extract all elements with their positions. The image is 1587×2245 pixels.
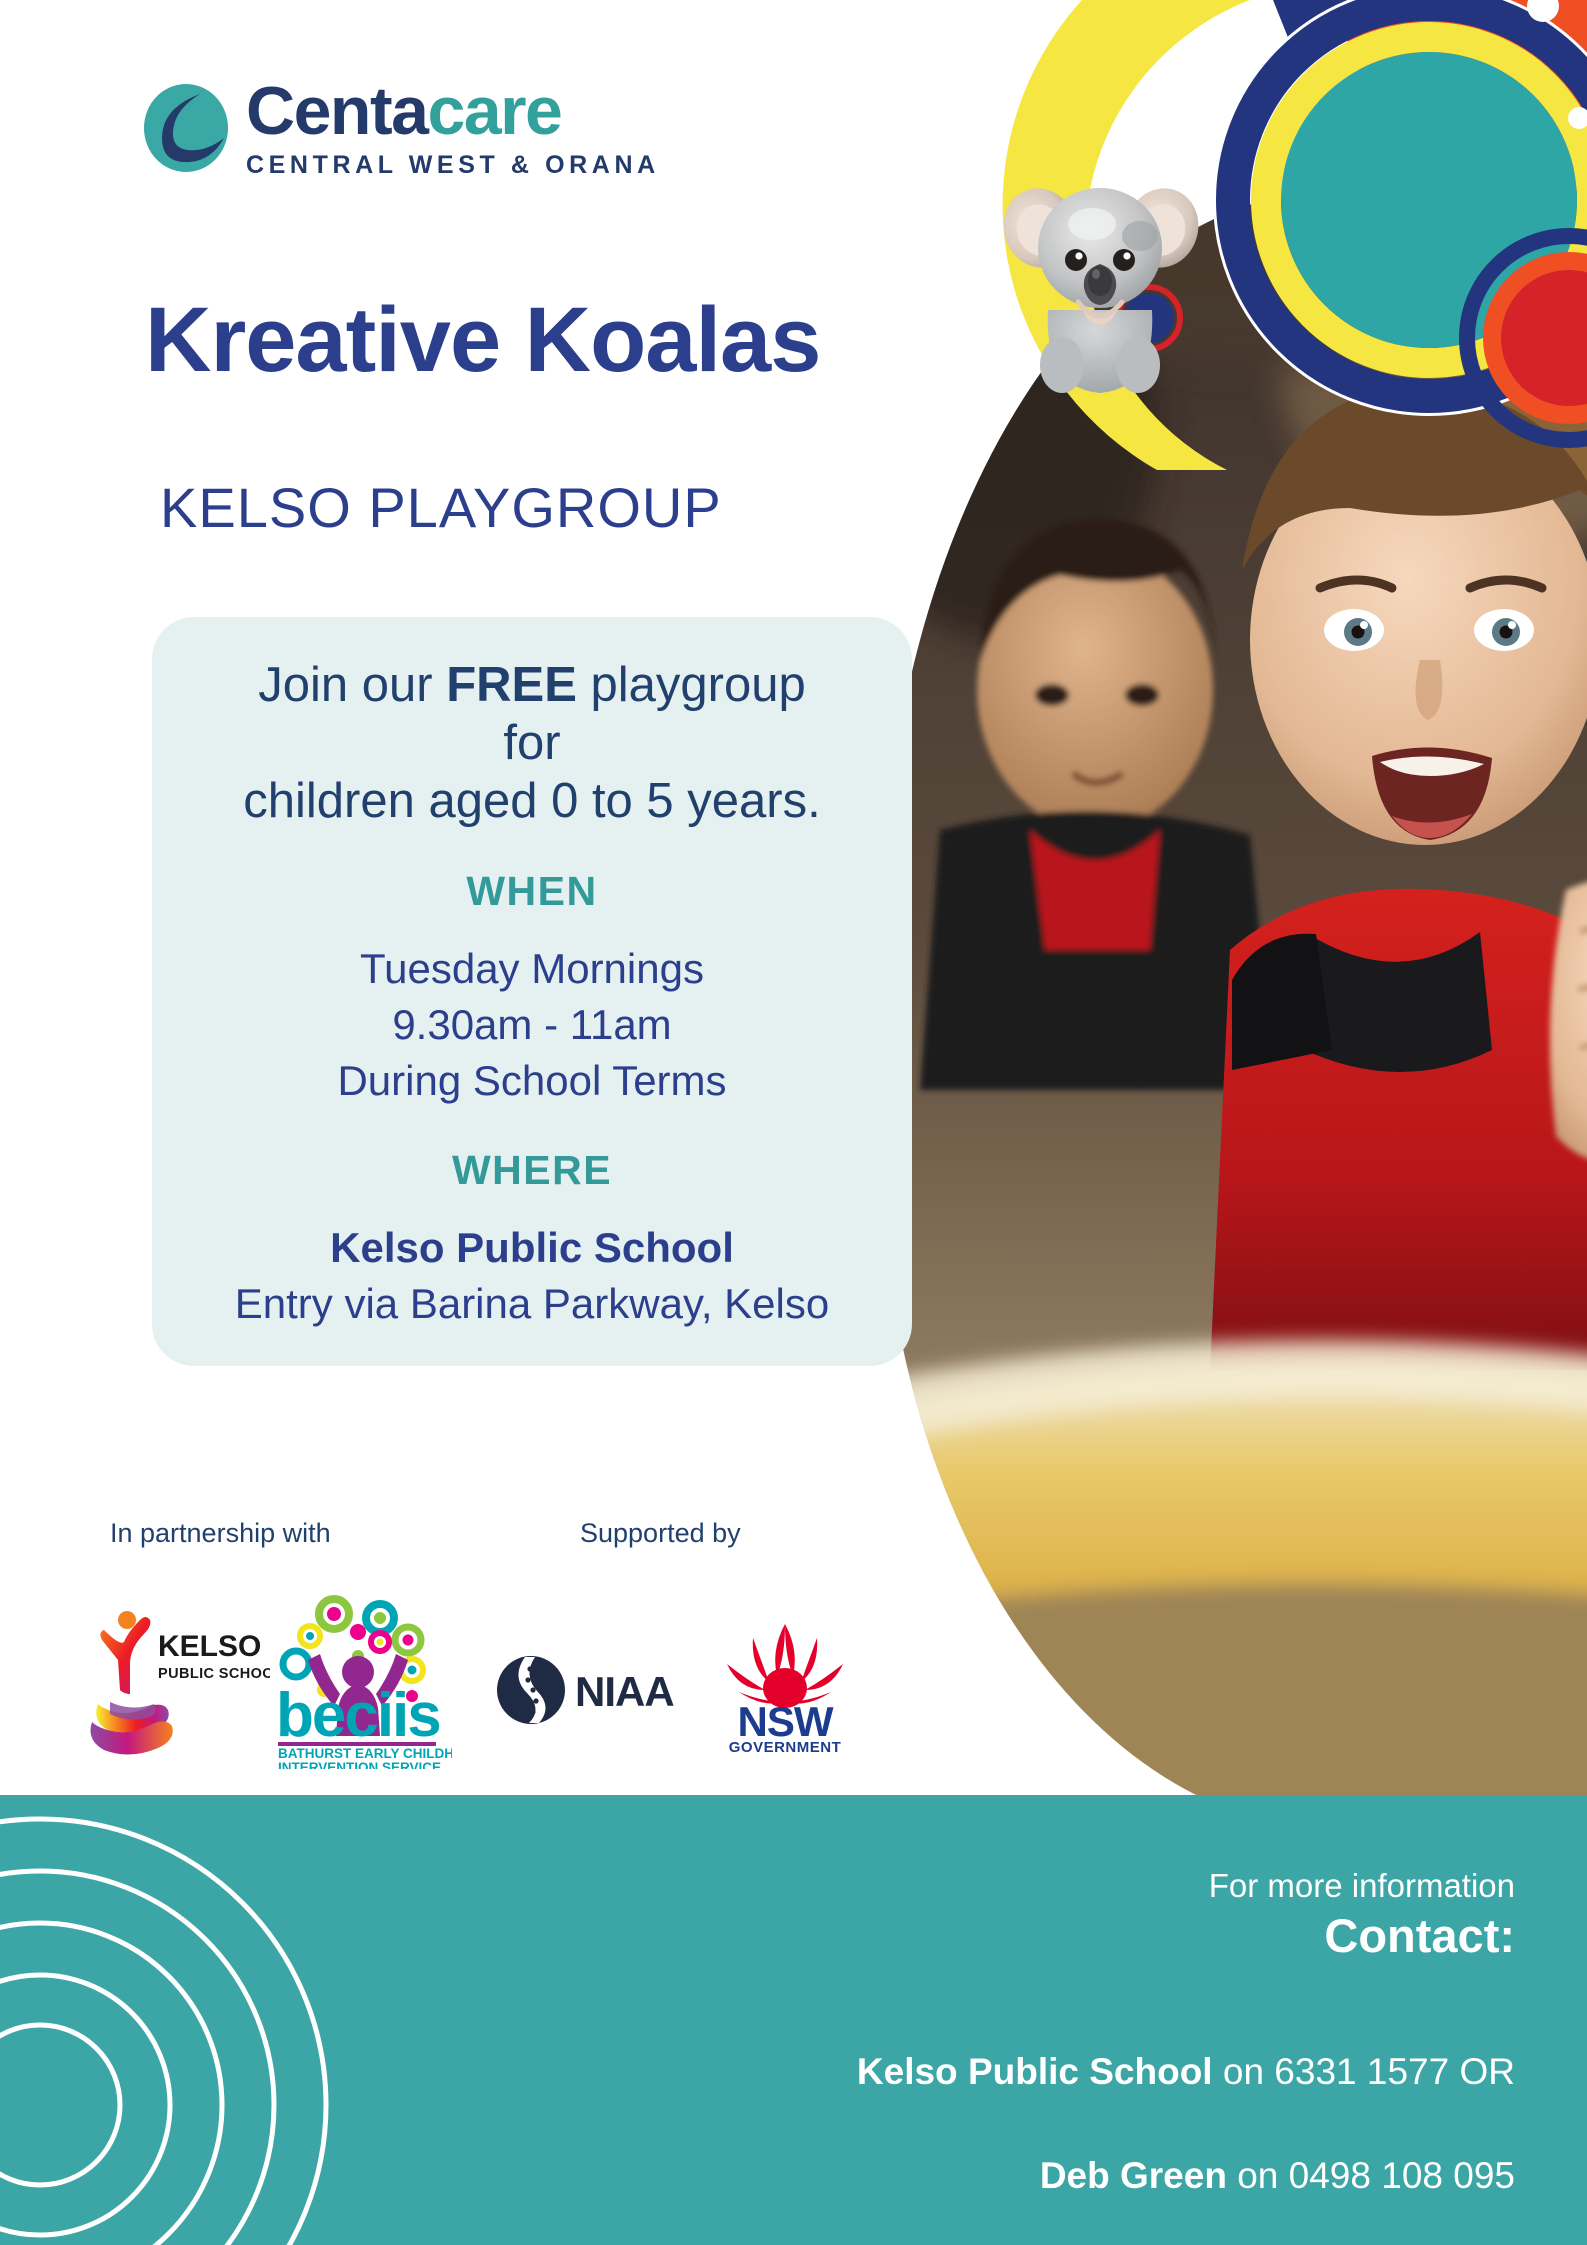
where-venue: Kelso Public School bbox=[182, 1220, 882, 1276]
nsw-government-logo: NSW GOVERNMENT bbox=[705, 1616, 865, 1756]
footer-contact-2-rest: on 0498 108 095 bbox=[1227, 2155, 1515, 2196]
footer-contact-1-name: Kelso Public School bbox=[857, 2051, 1213, 2092]
when-heading: WHEN bbox=[182, 868, 882, 915]
footer-more-info: For more information bbox=[857, 1865, 1515, 1906]
where-heading: WHERE bbox=[182, 1147, 882, 1194]
label-supported-by: Supported by bbox=[580, 1518, 741, 1549]
kelso-wordmark: KELSO bbox=[158, 1630, 261, 1663]
footer-contact-block: For more information Contact: Kelso Publ… bbox=[857, 1865, 1515, 2197]
label-in-partnership-with: In partnership with bbox=[110, 1518, 331, 1549]
info-card: Join our FREE playgroup for children age… bbox=[152, 617, 912, 1366]
beciis-logo-svg: beciis BATHURST EARLY CHILDHOOD INTERVEN… bbox=[262, 1584, 452, 1769]
centacare-logo: Centacare CENTRAL WEST & ORANA bbox=[140, 78, 660, 180]
beciis-logo: beciis BATHURST EARLY CHILDHOOD INTERVEN… bbox=[262, 1584, 452, 1769]
centacare-name-a: Centa bbox=[246, 73, 427, 149]
centacare-wordmark: Centacare CENTRAL WEST & ORANA bbox=[246, 78, 660, 180]
children-photo bbox=[880, 190, 1587, 1830]
koala-icon bbox=[1000, 150, 1200, 395]
centacare-name-b: care bbox=[427, 73, 561, 149]
when-line-3: During School Terms bbox=[182, 1053, 882, 1109]
footer-contact-2-name: Deb Green bbox=[1040, 2155, 1227, 2196]
footer-concentric-rings bbox=[0, 1795, 420, 2245]
niaa-logo-svg: NIAA bbox=[495, 1653, 695, 1728]
partner-labels: In partnership with Supported by bbox=[110, 1518, 910, 1558]
card-lead: Join our FREE playgroup for children age… bbox=[182, 657, 882, 830]
beciis-line1: BATHURST EARLY CHILDHOOD bbox=[278, 1746, 452, 1761]
beciis-wordmark: beciis bbox=[276, 1681, 440, 1750]
when-line-2: 9.30am - 11am bbox=[182, 997, 882, 1053]
centacare-swoosh-icon bbox=[140, 82, 232, 174]
kelso-public-school-logo: KELSO PUBLIC SCHOOL bbox=[80, 1598, 270, 1763]
footer-contact-1: Kelso Public School on 6331 1577 OR bbox=[857, 2051, 1515, 2093]
lead-line3: children aged 0 to 5 years. bbox=[243, 774, 820, 828]
photo-illustration bbox=[880, 190, 1587, 1830]
koala-illustration bbox=[1000, 150, 1200, 395]
lead-before: Join our bbox=[258, 658, 446, 712]
partner-logos: KELSO PUBLIC SCHOOL bbox=[70, 1578, 920, 1778]
footer-contact-1-rest: on 6331 1577 OR bbox=[1213, 2051, 1515, 2092]
niaa-logo: NIAA bbox=[495, 1653, 695, 1728]
footer-contact-2: Deb Green on 0498 108 095 bbox=[857, 2155, 1515, 2197]
footer-contact-label: Contact: bbox=[857, 1908, 1515, 1964]
kelso-subtext: PUBLIC SCHOOL bbox=[158, 1666, 270, 1682]
lead-free: FREE bbox=[446, 658, 577, 712]
kelso-logo-svg: KELSO PUBLIC SCHOOL bbox=[80, 1598, 270, 1763]
centacare-logo-mark bbox=[140, 82, 232, 174]
nsw-logo-svg: NSW GOVERNMENT bbox=[705, 1616, 865, 1756]
nsw-wordmark: NSW bbox=[738, 1698, 834, 1745]
page-title: Kreative Koalas bbox=[145, 288, 820, 393]
centacare-tagline: CENTRAL WEST & ORANA bbox=[246, 151, 660, 180]
where-address: Entry via Barina Parkway, Kelso bbox=[182, 1276, 882, 1332]
when-body: Tuesday Mornings 9.30am - 11am During Sc… bbox=[182, 941, 882, 1109]
niaa-wordmark: NIAA bbox=[575, 1668, 674, 1715]
page-subtitle: KELSO PLAYGROUP bbox=[160, 475, 722, 540]
when-line-1: Tuesday Mornings bbox=[182, 941, 882, 997]
where-body: Kelso Public School Entry via Barina Par… bbox=[182, 1220, 882, 1332]
lead-after: playgroup bbox=[577, 658, 806, 712]
centacare-name: Centacare bbox=[246, 78, 660, 145]
nsw-subtext: GOVERNMENT bbox=[729, 1739, 842, 1756]
beciis-line2: INTERVENTION SERVICE bbox=[278, 1760, 441, 1769]
footer-band: For more information Contact: Kelso Publ… bbox=[0, 1795, 1587, 2245]
lead-line2: for bbox=[503, 716, 560, 770]
poster-canvas: Centacare CENTRAL WEST & ORANA Kreative … bbox=[0, 0, 1587, 2245]
